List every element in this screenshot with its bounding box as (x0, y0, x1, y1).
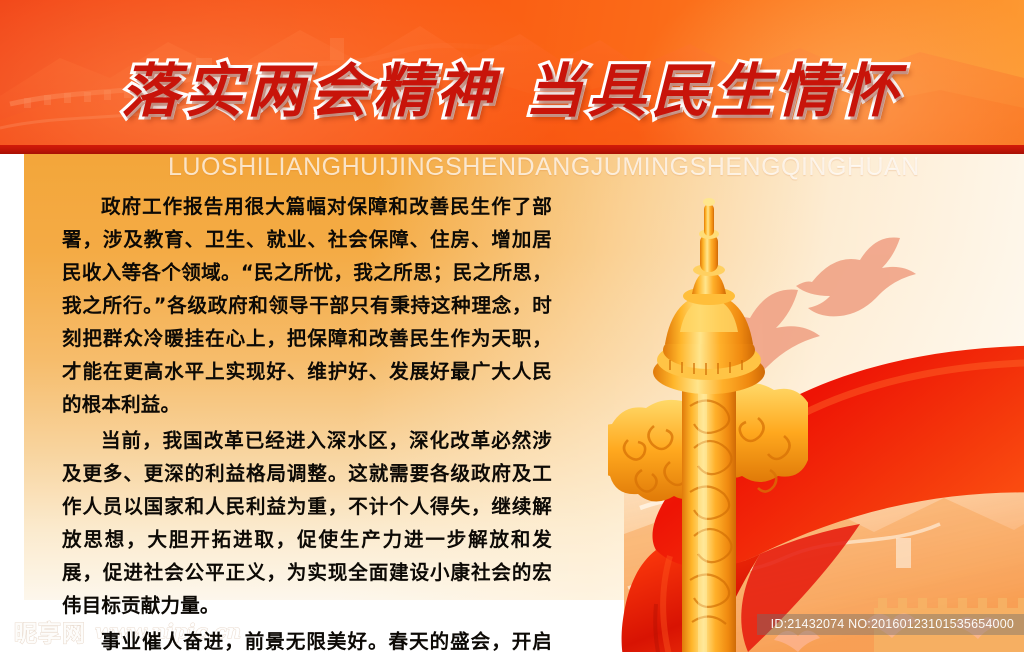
article-paragraph: 当前，我国改革已经进入深水区，深化改革必然涉及更多、更深的利益格局调整。这就需要… (62, 424, 552, 622)
article-body: 政府工作报告用很大篇幅对保障和改善民生作了部署，涉及教育、卫生、就业、社会保障、… (62, 190, 552, 652)
title-part-right: 当具民生情怀 (525, 57, 903, 125)
article-paragraph: 政府工作报告用很大篇幅对保障和改善民生作了部署，涉及教育、卫生、就业、社会保障、… (62, 190, 552, 421)
article-paragraph: 事业催人奋进，前景无限美好。春天的盛会，开启了新的航程。我们有理由相信，在以人为… (62, 625, 552, 652)
artwork-group (520, 154, 1024, 652)
title-part-left: 落实两会精神 (121, 57, 499, 125)
huabiao-pillar-icon (608, 182, 808, 652)
poster-title: 落实两会精神当具民生情怀 (0, 62, 1024, 120)
poster-canvas: 落实两会精神当具民生情怀 LUOSHILIANGHUIJINGSHENDANGJ… (0, 0, 1024, 652)
header-banner: 落实两会精神当具民生情怀 (0, 0, 1024, 145)
